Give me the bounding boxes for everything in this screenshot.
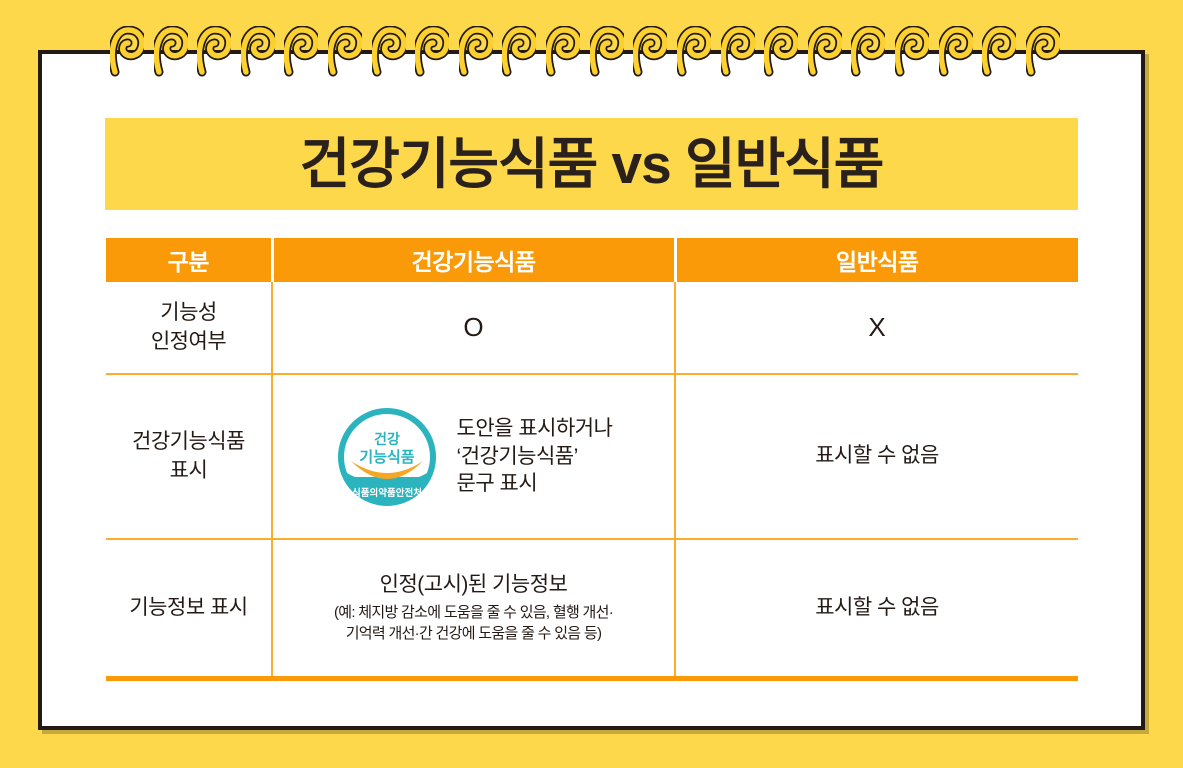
description-line: 문구 표시 xyxy=(457,470,613,498)
cell-general-food-functionality: X xyxy=(675,282,1078,374)
header-health-functional-food: 건강기능식품 xyxy=(272,238,675,282)
comparison-table-wrapper: 구분 건강기능식품 일반식품 기능성 인정여부 O X xyxy=(106,238,1078,681)
general-food-marking-text: 표시할 수 없음 xyxy=(815,444,939,467)
row-label-line: 표시 xyxy=(112,457,265,485)
table-row: 기능정보 표시 인정(고시)된 기능정보 (예: 체지방 감소에 도움을 줄 수… xyxy=(106,539,1078,678)
row-label-functional-info-marking: 기능정보 표시 xyxy=(106,539,272,678)
functional-info-example: (예: 체지방 감소에 도움을 줄 수 있음, 혈행 개선· 기억력 개선·간 … xyxy=(279,602,668,644)
functional-info-main: 인정(고시)된 기능정보 xyxy=(279,571,668,599)
row-label-health-food-marking: 건강기능식품 표시 xyxy=(106,374,272,539)
description-line: 도안을 표시하거나 xyxy=(457,415,613,443)
certification-badge: 건강 기능식품 식품의약품안전처 xyxy=(335,405,439,509)
row-label-line: 건강기능식품 xyxy=(112,428,265,456)
cell-health-food-marking: 건강 기능식품 식품의약품안전처 도안을 표시하거나 ‘건강기능식품’ 문구 표… xyxy=(272,374,675,539)
general-food-functional-info-text: 표시할 수 없음 xyxy=(815,596,939,619)
health-food-marking-description: 도안을 표시하거나 ‘건강기능식품’ 문구 표시 xyxy=(457,415,613,498)
comparison-table: 구분 건강기능식품 일반식품 기능성 인정여부 O X xyxy=(106,238,1078,681)
example-line: 기억력 개선·간 건강에 도움을 줄 수 있음 등) xyxy=(279,623,668,644)
mark-o: O xyxy=(463,312,483,342)
example-line: (예: 체지방 감소에 도움을 줄 수 있음, 혈행 개선· xyxy=(279,602,668,623)
title-banner: 건강기능식품 vs 일반식품 xyxy=(105,118,1078,210)
row-label-line: 인정여부 xyxy=(112,328,265,356)
cell-general-food-functional-info: 표시할 수 없음 xyxy=(675,539,1078,678)
badge-footer: 식품의약품안전처 xyxy=(352,487,422,499)
page-title: 건강기능식품 vs 일반식품 xyxy=(300,137,884,192)
header-general-food: 일반식품 xyxy=(675,238,1078,282)
table-row: 기능성 인정여부 O X xyxy=(106,282,1078,374)
badge-line2: 기능식품 xyxy=(359,449,414,466)
cell-health-food-functionality: O xyxy=(272,282,675,374)
mark-x: X xyxy=(868,312,885,342)
badge-line1: 건강 xyxy=(374,431,400,447)
cell-health-food-functional-info: 인정(고시)된 기능정보 (예: 체지방 감소에 도움을 줄 수 있음, 혈행 … xyxy=(272,539,675,678)
table-row: 건강기능식품 표시 xyxy=(106,374,1078,539)
row-label-line: 기능성 xyxy=(112,299,265,327)
row-label-functionality-approval: 기능성 인정여부 xyxy=(106,282,272,374)
row-label-line: 기능정보 표시 xyxy=(112,594,265,622)
description-line: ‘건강기능식품’ xyxy=(457,443,613,471)
header-category: 구분 xyxy=(106,238,272,282)
cell-general-food-marking: 표시할 수 없음 xyxy=(675,374,1078,539)
table-header-row: 구분 건강기능식품 일반식품 xyxy=(106,238,1078,282)
certification-badge-icon: 건강 기능식품 식품의약품안전처 xyxy=(335,405,439,509)
